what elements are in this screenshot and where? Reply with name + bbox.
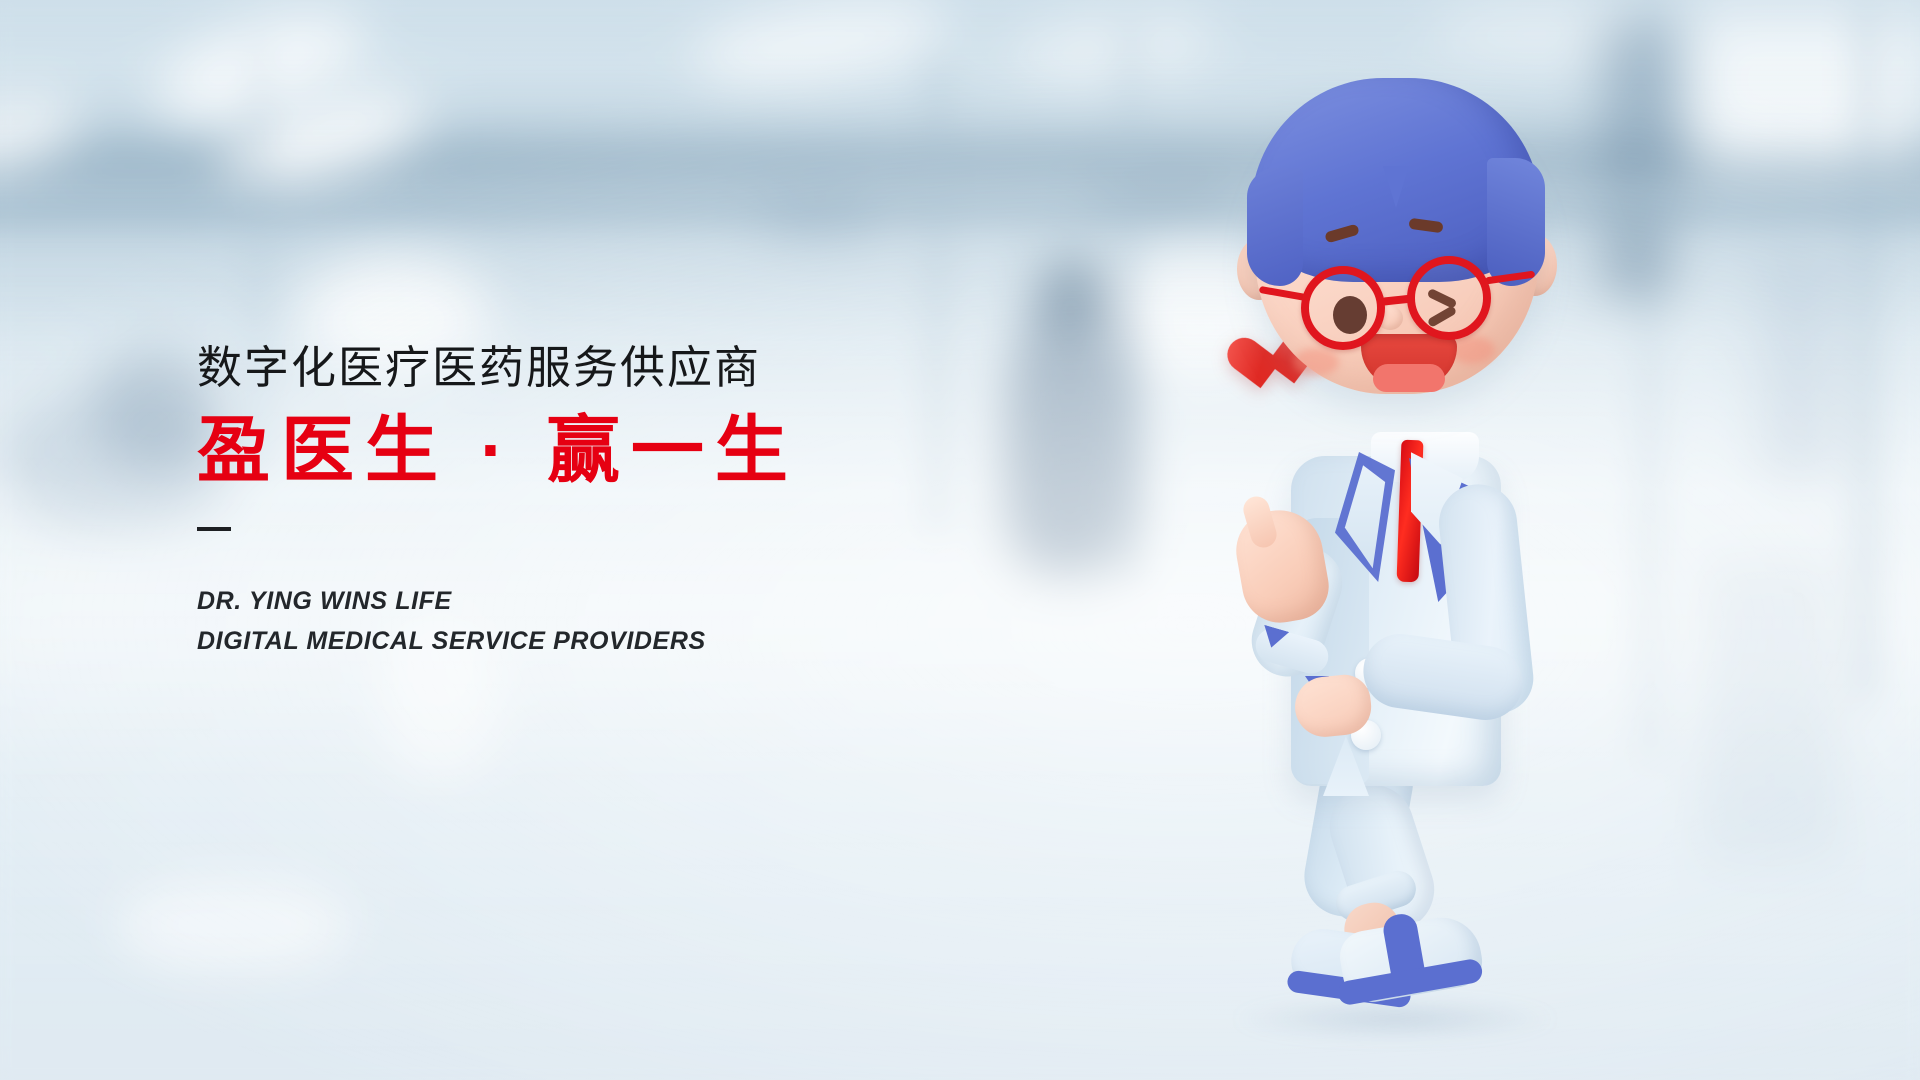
subtitle-en-line-2: DIGITAL MEDICAL SERVICE PROVIDERS bbox=[197, 621, 957, 661]
copy-block: 数字化医疗医药服务供应商 盈医生 · 赢一生 DR. YING WINS LIF… bbox=[197, 345, 957, 661]
hero-banner: 数字化医疗医药服务供应商 盈医生 · 赢一生 DR. YING WINS LIF… bbox=[0, 0, 1920, 1080]
divider-rule bbox=[197, 527, 231, 531]
page-headline-cn: 数字化医疗医药服务供应商 bbox=[197, 345, 957, 390]
doctor-mascot bbox=[1195, 48, 1615, 1058]
subtitle-en-block: DR. YING WINS LIFE DIGITAL MEDICAL SERVI… bbox=[197, 581, 957, 661]
mascot-hair-side-left bbox=[1247, 168, 1303, 286]
glasses-lens-right-icon bbox=[1407, 256, 1491, 340]
mascot-blush-left bbox=[1293, 348, 1339, 376]
glasses-lens-left-icon bbox=[1301, 266, 1385, 350]
subtitle-en-line-1: DR. YING WINS LIFE bbox=[197, 581, 957, 621]
mascot-hair-side-right bbox=[1487, 158, 1545, 286]
mascot-tongue bbox=[1373, 364, 1445, 392]
slogan-cn: 盈医生 · 赢一生 bbox=[197, 414, 957, 487]
